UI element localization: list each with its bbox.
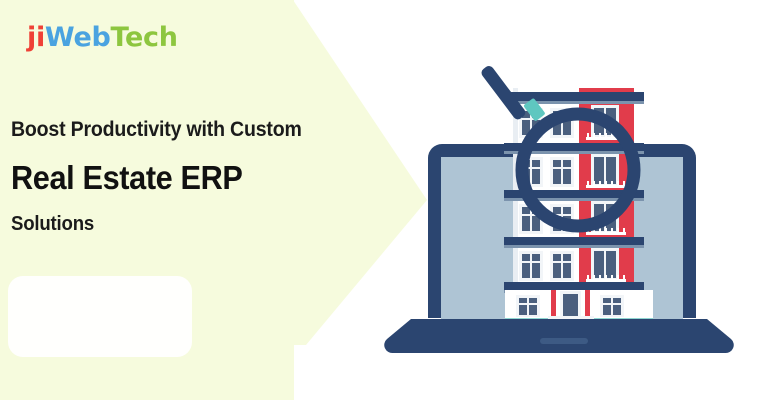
logo-part-ji: ji bbox=[27, 22, 45, 53]
headline-line-1: Boost Productivity with Custom bbox=[11, 118, 318, 143]
cta-card[interactable] bbox=[8, 276, 192, 357]
logo-part-tech: Tech bbox=[110, 22, 177, 53]
logo[interactable]: jiWebTech bbox=[27, 24, 178, 51]
headline-line-3: Solutions bbox=[11, 213, 318, 237]
headline-line-2: Real Estate ERP bbox=[11, 159, 318, 198]
logo-part-web: Web bbox=[45, 22, 111, 53]
promo-banner: jiWebTech Boost Productivity with Custom… bbox=[0, 0, 762, 400]
headline-block: Boost Productivity with Custom Real Esta… bbox=[11, 118, 341, 236]
